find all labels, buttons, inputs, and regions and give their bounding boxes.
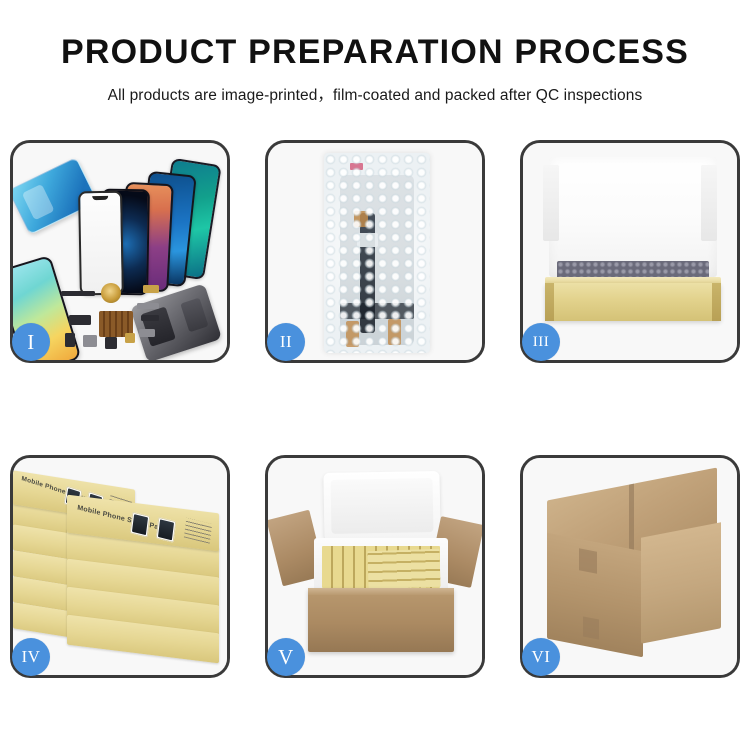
step-image-1 bbox=[13, 143, 227, 360]
step-panel-2[interactable]: II bbox=[265, 140, 485, 363]
page-subtitle: All products are image-printed，film-coat… bbox=[0, 83, 750, 105]
foam-lid-icon bbox=[323, 471, 440, 541]
bubble-wrapped-screen-illustration bbox=[268, 143, 482, 360]
product-preparation-page: PRODUCT PREPARATION PROCESS All products… bbox=[0, 0, 750, 750]
phone-back-shell-icon bbox=[130, 283, 222, 360]
step-panel-3[interactable]: III bbox=[520, 140, 740, 363]
phones-and-parts-illustration bbox=[13, 143, 227, 360]
kraft-box-front-icon bbox=[545, 283, 721, 321]
step-image-3 bbox=[523, 143, 737, 360]
carton-front-icon bbox=[308, 588, 454, 652]
step-image-4: Mobile Phone Spare Parts Mobile Pho bbox=[13, 458, 227, 675]
packed-boxes-stack-icon bbox=[367, 549, 440, 589]
part-cable-icon bbox=[141, 315, 159, 321]
step-panel-5[interactable]: V bbox=[265, 455, 485, 678]
box-thumbnail-front-2 bbox=[156, 517, 177, 543]
part-camera-icon bbox=[105, 337, 117, 349]
part-strip-icon bbox=[61, 291, 95, 296]
part-gold-icon bbox=[143, 285, 159, 293]
process-steps-grid: I II bbox=[10, 140, 740, 678]
bubble-texture-icon bbox=[324, 153, 430, 353]
phone-notch-icon bbox=[92, 196, 108, 200]
box-flap-right-icon bbox=[701, 165, 717, 241]
part-connector-icon bbox=[69, 315, 91, 325]
box-thumbnail-front-1 bbox=[130, 512, 151, 538]
part-screw-icon bbox=[125, 333, 135, 343]
white-box-lid-icon bbox=[549, 157, 717, 277]
page-header: PRODUCT PREPARATION PROCESS All products… bbox=[0, 0, 750, 105]
wireless-coil-icon bbox=[101, 283, 121, 303]
carton-with-foam-box-illustration bbox=[268, 458, 482, 675]
box-spec-lines-front bbox=[184, 518, 212, 544]
step-image-5 bbox=[268, 458, 482, 675]
phone-white-icon bbox=[78, 191, 124, 296]
part-button-icon bbox=[65, 333, 75, 347]
step-badge-1: I bbox=[12, 323, 50, 361]
step-panel-6[interactable]: VI bbox=[520, 455, 740, 678]
step-panel-1[interactable]: I bbox=[10, 140, 230, 363]
step-image-6 bbox=[523, 458, 737, 675]
step-badge-5: V bbox=[267, 638, 305, 676]
part-speaker-icon bbox=[83, 335, 97, 347]
open-box-with-foam-illustration bbox=[523, 143, 737, 360]
stacked-retail-boxes-illustration: Mobile Phone Spare Parts Mobile Pho bbox=[13, 458, 227, 675]
part-flex-icon bbox=[137, 303, 159, 309]
box-label-text-front: Mobile Phone Spare Parts bbox=[77, 504, 168, 533]
step-badge-4: IV bbox=[12, 638, 50, 676]
sealed-carton-illustration bbox=[523, 458, 737, 675]
step-badge-6: VI bbox=[522, 638, 560, 676]
carton-side-face-icon bbox=[641, 522, 721, 644]
step-badge-3: III bbox=[522, 323, 560, 361]
step-panel-4[interactable]: Mobile Phone Spare Parts Mobile Pho bbox=[10, 455, 230, 678]
page-title: PRODUCT PREPARATION PROCESS bbox=[0, 34, 750, 71]
box-stack-icon: Mobile Phone Spare Parts Mobile Pho bbox=[13, 476, 227, 668]
step-badge-2: II bbox=[267, 323, 305, 361]
bubble-bag-icon bbox=[324, 153, 430, 353]
carton-tab-lower-icon bbox=[583, 616, 599, 639]
box-flap-left-icon bbox=[543, 165, 559, 241]
carton-tab-upper-icon bbox=[579, 548, 597, 573]
part-bracket-icon bbox=[139, 329, 155, 337]
step-image-2 bbox=[268, 143, 482, 360]
